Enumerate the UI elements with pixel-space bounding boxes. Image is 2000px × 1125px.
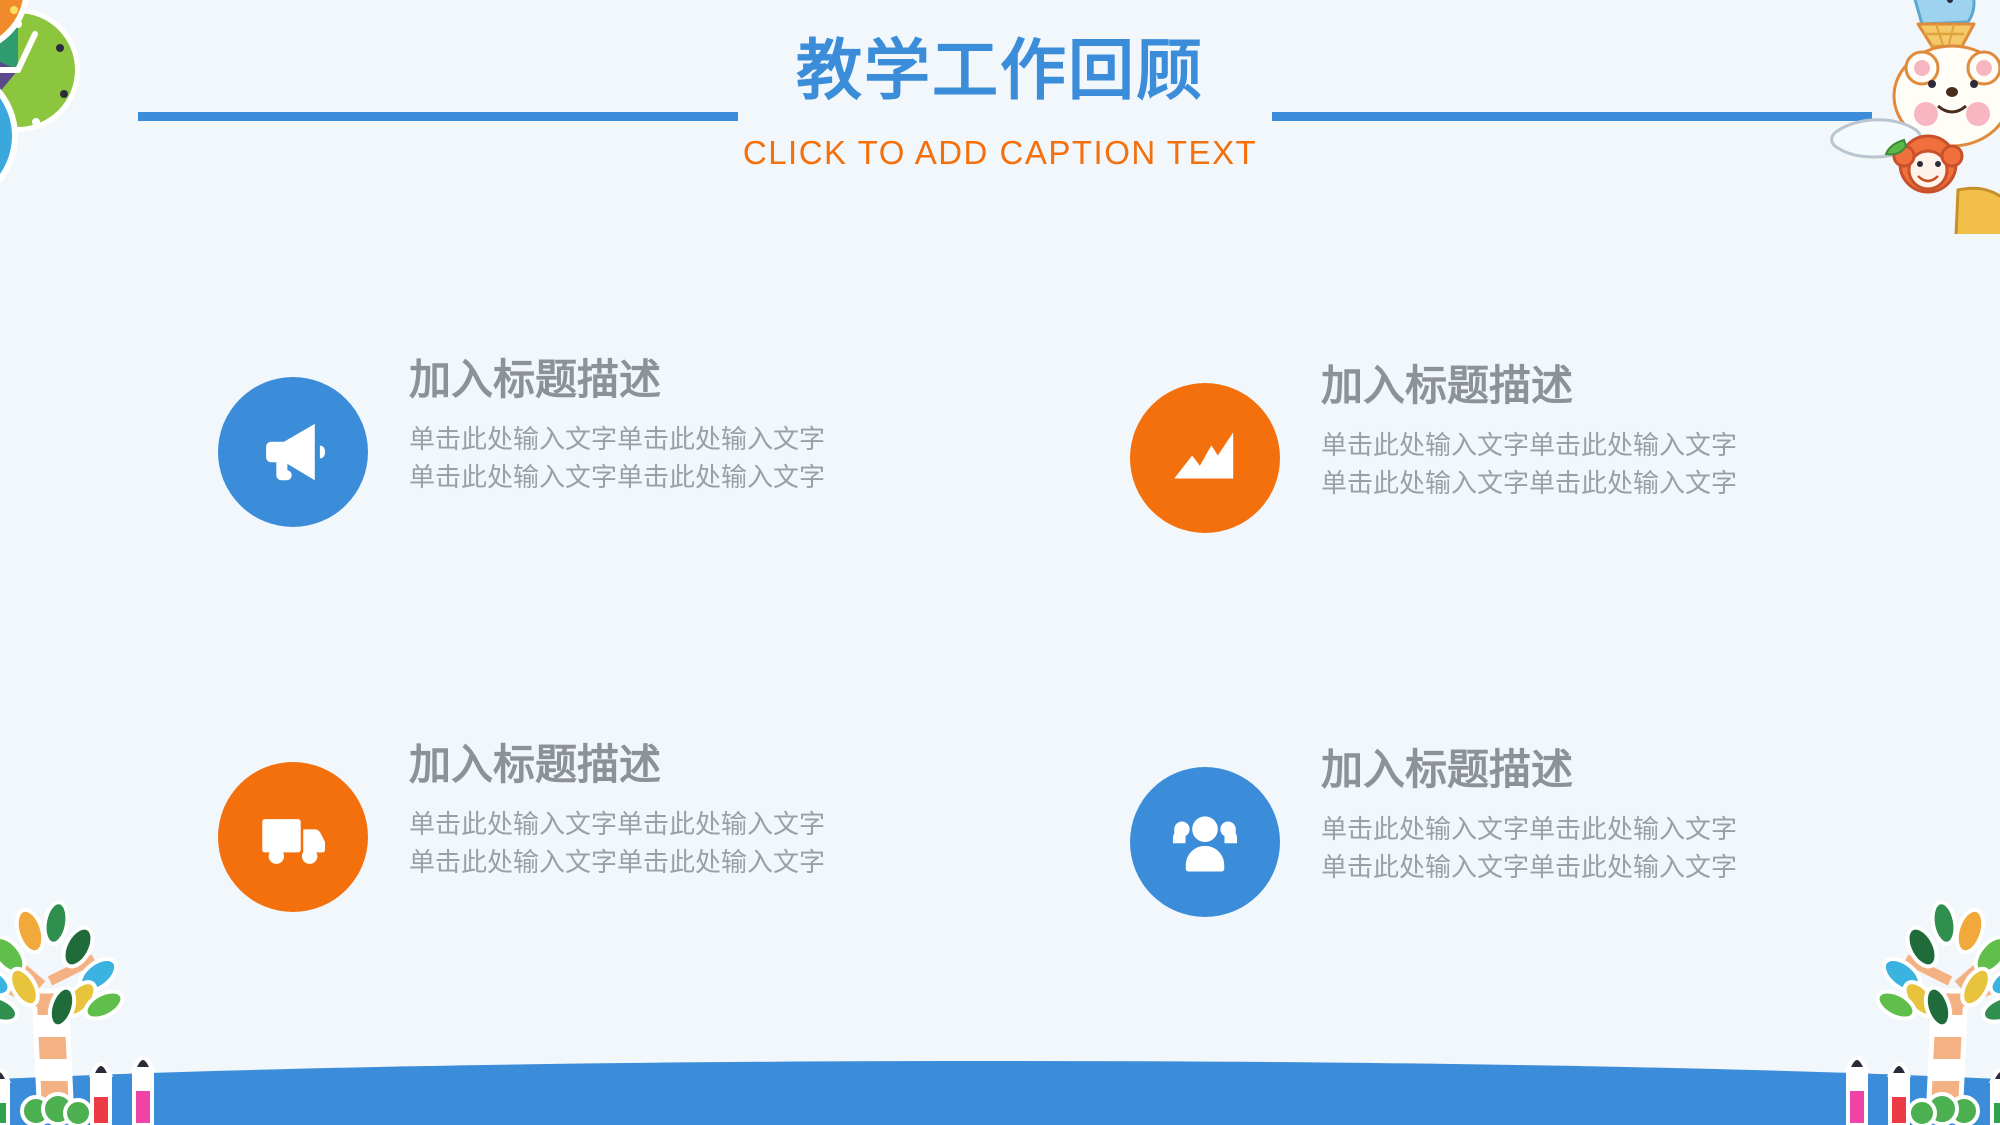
feature-title: 加入标题描述 — [409, 740, 825, 790]
feature-text: 加入标题描述 单击此处输入文字单击此处输入文字 单击此处输入文字单击此处输入文字 — [409, 355, 825, 497]
feature-desc-line1: 单击此处输入文字单击此处输入文字 — [409, 421, 825, 459]
delivery-truck-icon — [218, 762, 368, 912]
feature-desc-line2: 单击此处输入文字单击此处输入文字 — [1321, 849, 1737, 887]
feature-item[interactable]: 加入标题描述 单击此处输入文字单击此处输入文字 单击此处输入文字单击此处输入文字 — [1130, 361, 1900, 533]
feature-desc-line1: 单击此处输入文字单击此处输入文字 — [409, 806, 825, 844]
area-chart-icon — [1130, 383, 1280, 533]
feature-text: 加入标题描述 单击此处输入文字单击此处输入文字 单击此处输入文字单击此处输入文字 — [409, 740, 825, 882]
feature-item[interactable]: 加入标题描述 单击此处输入文字单击此处输入文字 单击此处输入文字单击此处输入文字 — [218, 740, 988, 912]
feature-desc-line1: 单击此处输入文字单击此处输入文字 — [1321, 811, 1737, 849]
feature-desc-line2: 单击此处输入文字单击此处输入文字 — [409, 844, 825, 882]
people-group-icon — [1130, 767, 1280, 917]
feature-desc-line1: 单击此处输入文字单击此处输入文字 — [1321, 427, 1737, 465]
feature-item[interactable]: 加入标题描述 单击此处输入文字单击此处输入文字 单击此处输入文字单击此处输入文字 — [218, 355, 988, 527]
header-divider-right — [1272, 112, 1872, 121]
feature-desc-line2: 单击此处输入文字单击此处输入文字 — [1321, 465, 1737, 503]
crayon-tree-icon — [0, 895, 234, 1125]
megaphone-icon — [218, 377, 368, 527]
feature-item[interactable]: 加入标题描述 单击此处输入文字单击此处输入文字 单击此处输入文字单击此处输入文字 — [1130, 745, 1900, 917]
feature-title: 加入标题描述 — [409, 355, 825, 405]
slide-header: 教学工作回顾 CLICK TO ADD CAPTION TEXT — [0, 0, 2000, 210]
feature-grid: 加入标题描述 单击此处输入文字单击此处输入文字 单击此处输入文字单击此处输入文字… — [218, 355, 1838, 965]
feature-title: 加入标题描述 — [1321, 361, 1737, 411]
feature-title: 加入标题描述 — [1321, 745, 1737, 795]
page-subtitle: CLICK TO ADD CAPTION TEXT — [0, 134, 2000, 172]
page-title: 教学工作回顾 — [0, 36, 2000, 105]
feature-text: 加入标题描述 单击此处输入文字单击此处输入文字 单击此处输入文字单击此处输入文字 — [1321, 745, 1737, 887]
blue-ground-curve — [0, 1045, 2000, 1125]
feature-text: 加入标题描述 单击此处输入文字单击此处输入文字 单击此处输入文字单击此处输入文字 — [1321, 361, 1737, 503]
header-divider-left — [138, 112, 738, 121]
feature-desc-line2: 单击此处输入文字单击此处输入文字 — [409, 459, 825, 497]
